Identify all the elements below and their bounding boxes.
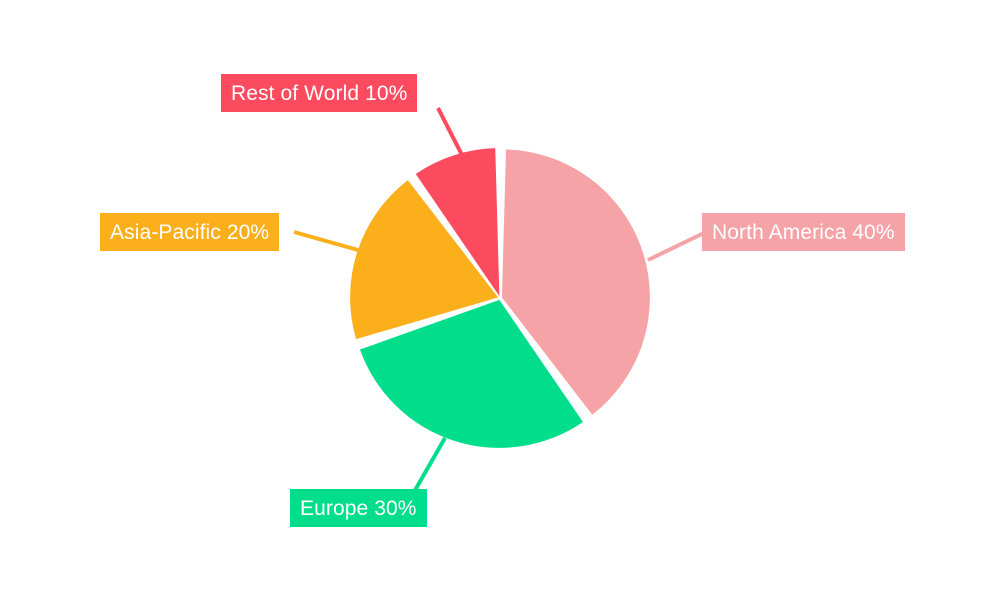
leader-line-rest-of-world [438, 108, 462, 155]
pie-label-europe[interactable]: Europe 30% [290, 489, 427, 527]
pie-label-north-america[interactable]: North America 40% [702, 213, 905, 251]
leader-line-north-america [648, 232, 706, 260]
pie-chart-figure: North America 40% Europe 30% Asia-Pacifi… [0, 0, 1000, 600]
pie-slices-group [350, 148, 650, 448]
pie-label-rest-of-world[interactable]: Rest of World 10% [221, 74, 417, 112]
pie-label-asia-pacific[interactable]: Asia-Pacific 20% [100, 213, 279, 251]
leader-line-asia-pacific [294, 232, 358, 250]
pie-chart-canvas [0, 0, 1000, 600]
leader-line-europe [414, 438, 445, 492]
